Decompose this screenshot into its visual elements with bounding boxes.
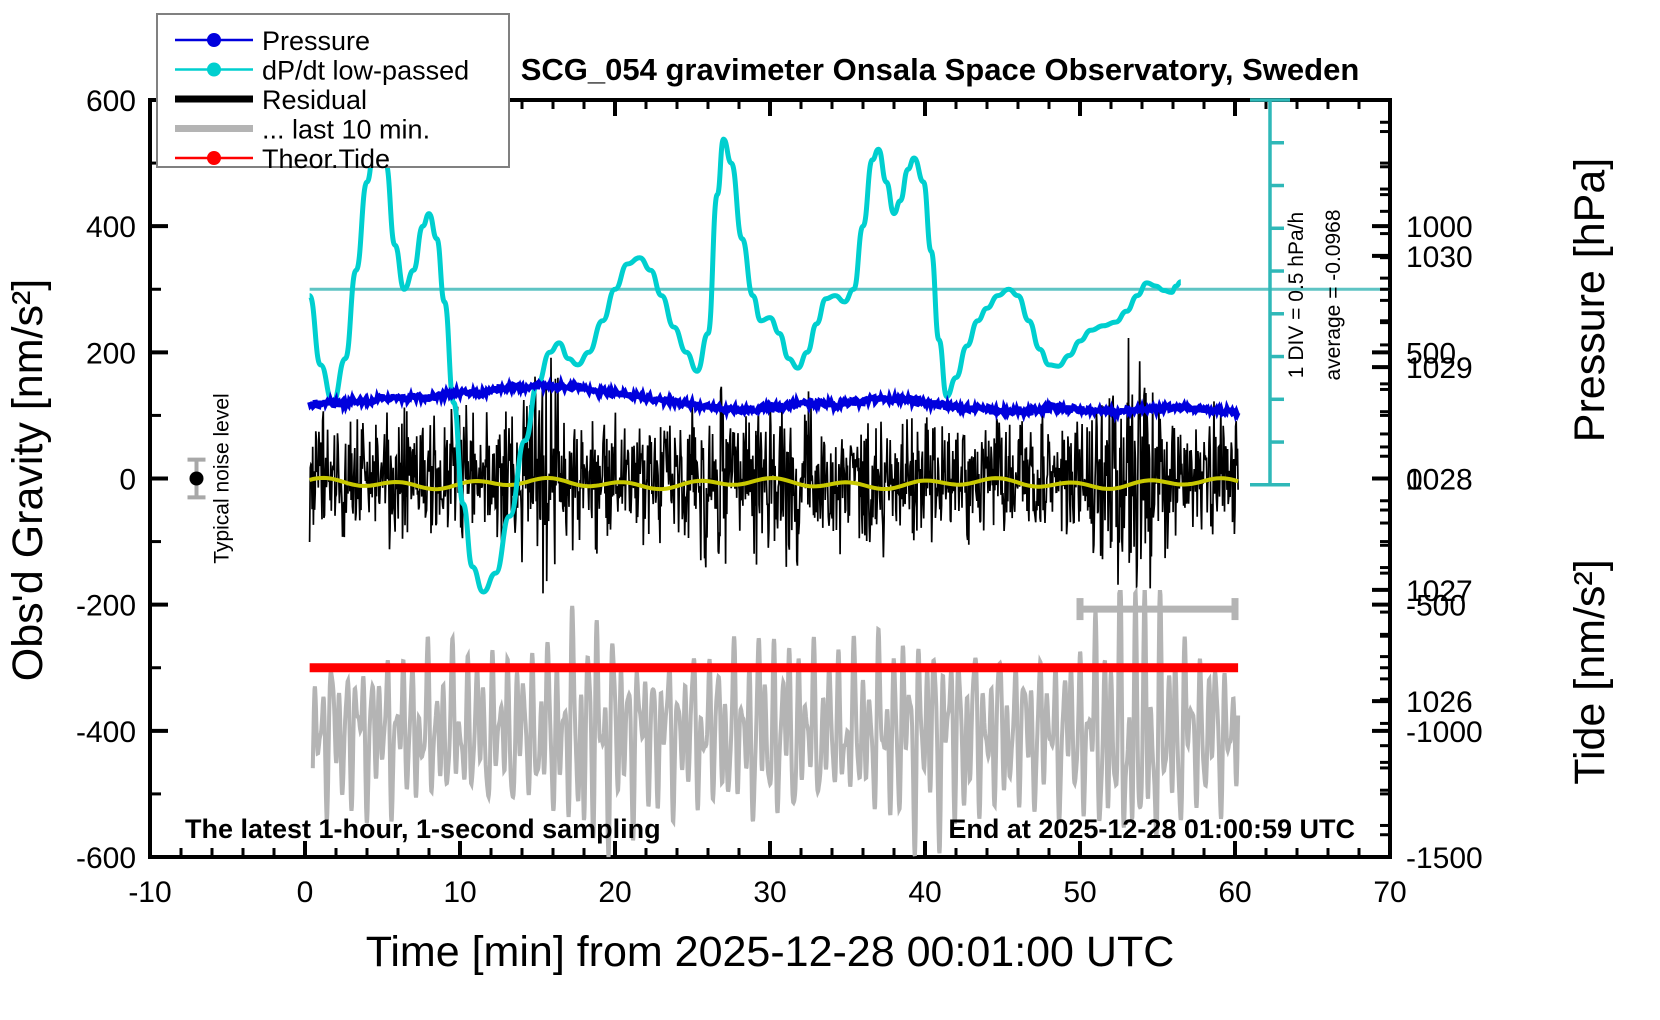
y-tick-label: 600 [86, 85, 136, 118]
legend-label: dP/dt low-passed [262, 56, 469, 86]
gravimeter-plot: -100102030405060706004002000-200-400-600… [0, 0, 1660, 1020]
pressure-tick-label: 1026 [1406, 686, 1473, 719]
legend-label: Pressure [262, 26, 370, 56]
x-tick-label: 20 [598, 876, 631, 909]
x-tick-label: 10 [443, 876, 476, 909]
pressure-tick-label: 1030 [1406, 241, 1473, 274]
y-tick-label: 400 [86, 211, 136, 244]
y-tick-label: -600 [76, 842, 136, 875]
tide-tick-label: -500 [1406, 590, 1466, 623]
tide-tick-label: -1500 [1406, 842, 1483, 875]
x-tick-label: 40 [908, 876, 941, 909]
tide-tick-label: 0 [1406, 464, 1423, 497]
y-tick-label: -400 [76, 716, 136, 749]
scalebar-div-label: 1 DIV = 0.5 hPa/h [1285, 212, 1308, 378]
chart-title: SCG_054 gravimeter Onsala Space Observat… [521, 52, 1360, 87]
typical-noise-level-label: Typical noise level [211, 393, 234, 563]
y-axis-title-tide: Tide [nm/s²] [1566, 559, 1614, 784]
chart-figure: -100102030405060706004002000-200-400-600… [0, 0, 1660, 1020]
footer-right-label: End at 2025-12-28 01:00:59 UTC [948, 814, 1355, 844]
y-tick-label: -200 [76, 590, 136, 623]
footer-left-label: The latest 1-hour, 1-second sampling [185, 814, 661, 844]
legend-label: ... last 10 min. [262, 115, 430, 145]
x-tick-label: 30 [753, 876, 786, 909]
legend: PressuredP/dt low-passedResidual... last… [157, 14, 509, 174]
y-tick-label: 200 [86, 337, 136, 370]
x-axis-title: Time [min] from 2025-12-28 00:01:00 UTC [366, 928, 1175, 976]
tide-tick-label: 1000 [1406, 211, 1473, 244]
x-tick-label: 50 [1063, 876, 1096, 909]
scalebar-average-label: average = -0.0968 [1322, 209, 1345, 380]
y-axis-title-pressure: Pressure [hPa] [1566, 158, 1614, 442]
y-tick-label: 0 [119, 464, 136, 497]
x-tick-label: 0 [297, 876, 314, 909]
x-tick-label: 70 [1373, 876, 1406, 909]
legend-label: Residual [262, 85, 367, 115]
y-axis-title-left: Obs'd Gravity [nm/s²] [4, 279, 52, 681]
legend-label: Theor.Tide [262, 144, 390, 174]
tide-tick-label: -1000 [1406, 716, 1483, 749]
x-tick-label: -10 [128, 876, 171, 909]
x-tick-label: 60 [1218, 876, 1251, 909]
tide-tick-label: 500 [1406, 337, 1456, 370]
